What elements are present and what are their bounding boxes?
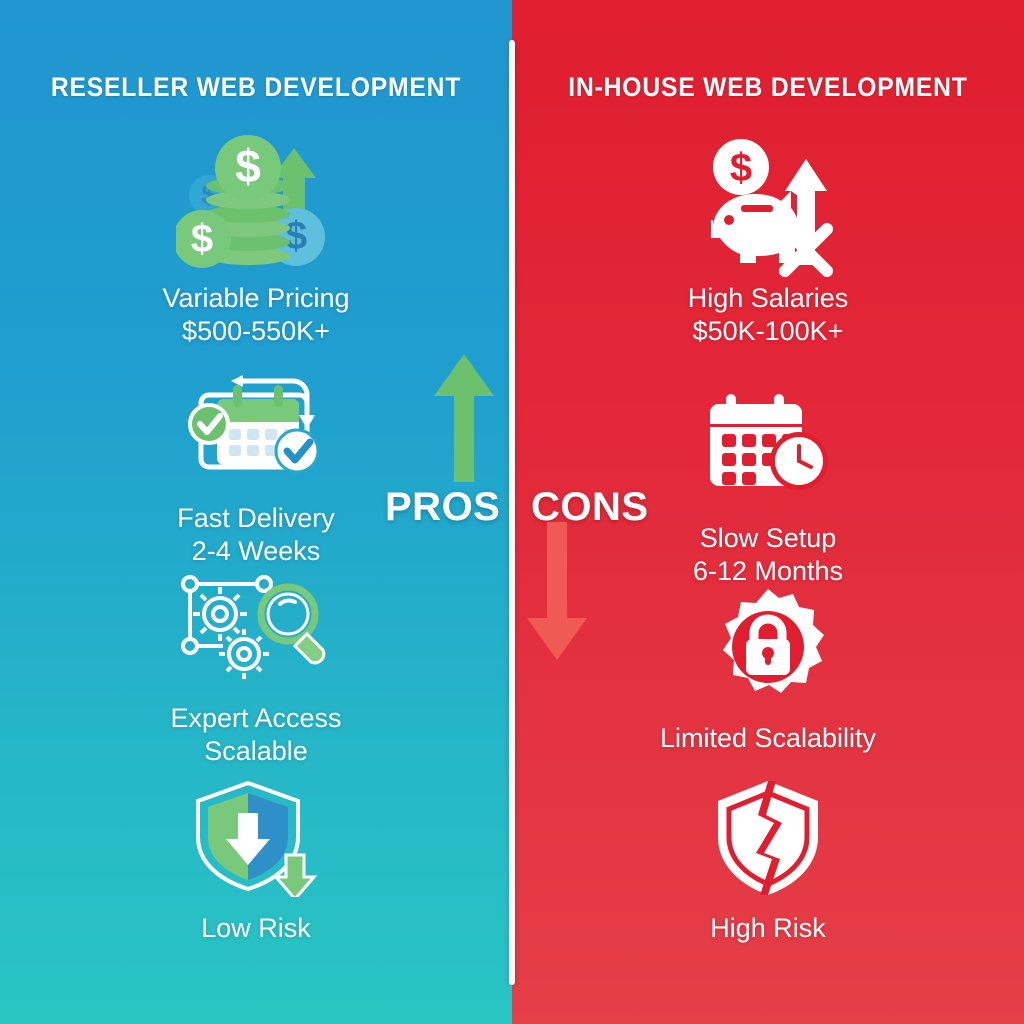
gears-magnifier-icon (0, 552, 512, 702)
right-item-high-risk: High Risk (512, 762, 1024, 945)
left-item-line1: Fast Delivery (177, 503, 335, 533)
right-item-high-salaries: $ (512, 132, 1024, 348)
infographic-canvas: RESELLER WEB DEVELOPMENT $ $ (0, 0, 1024, 1024)
right-panel-title: IN-HOUSE WEB DEVELOPMENT (530, 72, 1006, 103)
left-item-line1: Low Risk (201, 913, 311, 943)
left-item-label: Low Risk (0, 912, 512, 945)
center-divider (509, 40, 515, 985)
left-panel-title: RESELLER WEB DEVELOPMENT (18, 72, 494, 103)
left-item-low-risk: Low Risk (0, 762, 512, 945)
right-item-line1: Slow Setup (700, 523, 837, 553)
left-item-label: Variable Pricing $500-550K+ (0, 282, 512, 348)
left-item-expert-access: Expert Access Scalable (0, 552, 512, 768)
svg-text:$: $ (235, 140, 261, 192)
calendar-check-icon (0, 352, 512, 502)
right-item-line2: $50K-100K+ (512, 315, 1024, 348)
right-item-line1: Limited Scalability (660, 723, 876, 753)
right-item-line1: High Salaries (688, 283, 849, 313)
left-item-fast-delivery: Fast Delivery 2-4 Weeks (0, 352, 512, 568)
right-item-label: Limited Scalability (512, 722, 1024, 755)
coin-stack-icon: $ $ $ (0, 132, 512, 282)
right-item-line1: High Risk (710, 913, 826, 943)
right-panel: IN-HOUSE WEB DEVELOPMENT $ (512, 0, 1024, 1024)
piggy-bank-x-icon: $ (512, 132, 1024, 282)
broken-shield-icon (512, 762, 1024, 912)
left-item-line1: Variable Pricing (162, 283, 349, 313)
left-item-line2: $500-550K+ (0, 315, 512, 348)
svg-text:$: $ (285, 214, 307, 258)
left-item-label: Expert Access Scalable (0, 702, 512, 768)
left-panel: RESELLER WEB DEVELOPMENT $ $ (0, 0, 512, 1024)
right-item-limited-scalability: Limited Scalability (512, 572, 1024, 755)
shield-down-arrow-icon (0, 762, 512, 912)
svg-text:$: $ (730, 146, 752, 190)
calendar-clock-icon (512, 372, 1024, 522)
left-item-line1: Expert Access (170, 703, 341, 733)
gear-lock-icon (512, 572, 1024, 722)
right-item-label: High Salaries $50K-100K+ (512, 282, 1024, 348)
svg-text:$: $ (191, 217, 213, 261)
right-item-slow-setup: Slow Setup 6-12 Months (512, 372, 1024, 588)
left-item-variable-pricing: $ $ $ (0, 132, 512, 348)
right-item-label: High Risk (512, 912, 1024, 945)
